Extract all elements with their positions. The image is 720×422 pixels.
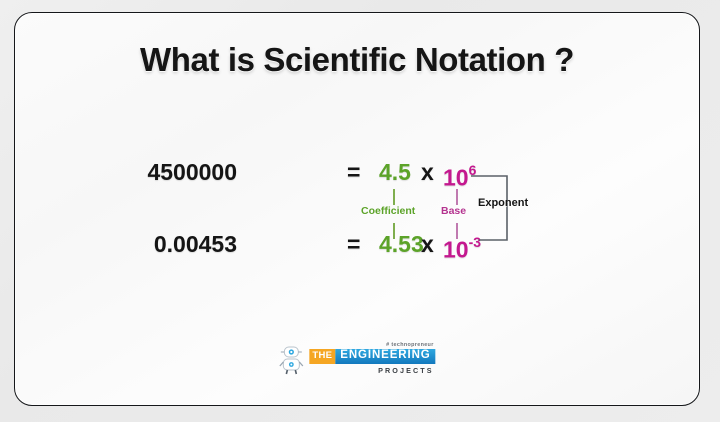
coefficient-leader-line-upper bbox=[393, 189, 395, 205]
equation-1-equals-sign: = bbox=[347, 157, 360, 187]
page-title: What is Scientific Notation ? bbox=[15, 41, 699, 79]
equation-1-decimal-value: 4500000 bbox=[147, 157, 237, 187]
equation-2-multiplication-sign: x bbox=[421, 229, 434, 259]
equation-1-exponent: 6 bbox=[469, 162, 477, 178]
annotation-label-base: Base bbox=[441, 205, 466, 217]
slide-card: What is Scientific Notation ? 4500000 = … bbox=[14, 12, 700, 406]
equation-1-base: 106 bbox=[443, 157, 476, 193]
equation-2-coefficient: 4.53 bbox=[379, 229, 424, 259]
equation-1-base-number: 10 bbox=[443, 165, 469, 191]
annotation-label-exponent: Exponent bbox=[478, 197, 528, 209]
equation-1-multiplication-sign: x bbox=[421, 157, 434, 187]
equation-row-1: 4500000 = 4.5 x 106 bbox=[15, 157, 699, 189]
annotation-label-coefficient: Coefficient bbox=[361, 205, 415, 217]
base-leader-line-lower bbox=[456, 223, 458, 239]
equation-block: 4500000 = 4.5 x 106 0.00453 = 4.53 x 10-… bbox=[15, 153, 699, 283]
equation-2-equals-sign: = bbox=[347, 229, 360, 259]
logo-engineering-badge: ENGINEERING bbox=[335, 349, 435, 364]
base-leader-line-upper bbox=[456, 189, 458, 205]
coefficient-leader-line-lower bbox=[393, 223, 395, 239]
equation-2-decimal-value: 0.00453 bbox=[154, 229, 237, 259]
equation-2-base: 10-3 bbox=[443, 229, 481, 265]
equation-row-2: 0.00453 = 4.53 x 10-3 bbox=[15, 229, 699, 261]
logo-the-badge: THE bbox=[309, 349, 335, 364]
robot-mascot-icon bbox=[278, 345, 304, 375]
equation-2-exponent: -3 bbox=[469, 234, 481, 250]
logo-projects-text: PROJECTS bbox=[378, 366, 434, 375]
equation-2-base-number: 10 bbox=[443, 237, 469, 263]
slide-root: What is Scientific Notation ? 4500000 = … bbox=[0, 0, 720, 422]
brand-logo: # technopreneur THE ENGINEERING PROJECTS bbox=[278, 342, 435, 376]
equation-1-coefficient: 4.5 bbox=[379, 157, 411, 187]
logo-tagline: # technopreneur bbox=[386, 342, 434, 348]
logo-text-stack: # technopreneur THE ENGINEERING PROJECTS bbox=[309, 342, 435, 376]
logo-wordmark: THE ENGINEERING bbox=[309, 349, 435, 364]
